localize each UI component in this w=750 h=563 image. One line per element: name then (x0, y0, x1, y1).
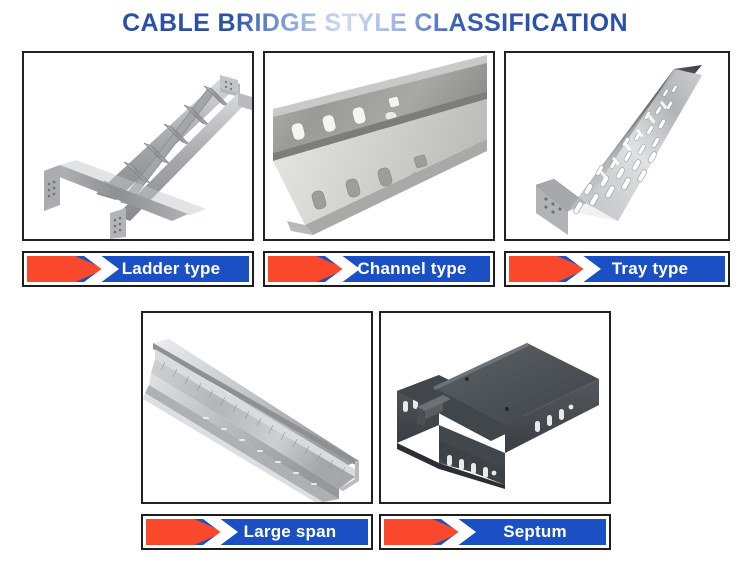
photo-frame-tray-type (504, 51, 730, 241)
large-span-cable-tray-photo (143, 313, 371, 502)
card-tray-type[interactable]: Tray type (504, 51, 730, 287)
label-inner-large-span: Large span (146, 519, 368, 545)
label-inner-ladder-type: Ladder type (27, 256, 249, 282)
page-title: CABLE BRIDGE STYLE CLASSIFICATION (0, 8, 750, 38)
card-label-large-span: Large span (146, 522, 368, 542)
card-large-span[interactable]: Large span (141, 311, 373, 550)
card-label-channel-type: Channel type (268, 259, 490, 279)
label-inner-tray-type: Tray type (509, 256, 725, 282)
ladder-type-cable-tray-photo (24, 53, 252, 239)
card-ladder-type[interactable]: Ladder type (22, 51, 254, 287)
card-label-tray-type: Tray type (509, 259, 725, 279)
label-bar-septum[interactable]: Septum (379, 514, 611, 550)
poster-root: CABLE BRIDGE STYLE CLASSIFICATION (0, 0, 750, 563)
card-channel-type[interactable]: Channel type (263, 51, 495, 287)
label-bar-channel-type[interactable]: Channel type (263, 251, 495, 287)
label-inner-septum: Septum (384, 519, 606, 545)
label-bar-large-span[interactable]: Large span (141, 514, 373, 550)
label-bar-ladder-type[interactable]: Ladder type (22, 251, 254, 287)
label-inner-channel-type: Channel type (268, 256, 490, 282)
photo-frame-ladder-type (22, 51, 254, 241)
label-bar-tray-type[interactable]: Tray type (504, 251, 730, 287)
photo-frame-channel-type (263, 51, 495, 241)
photo-frame-large-span (141, 311, 373, 504)
channel-type-cable-tray-photo (265, 53, 493, 239)
card-label-septum: Septum (384, 522, 606, 542)
card-label-ladder-type: Ladder type (27, 259, 249, 279)
septum-cable-tray-photo (381, 313, 609, 502)
bottom-row: Large span (141, 311, 611, 550)
top-row: Ladder type (22, 51, 730, 287)
tray-type-cable-tray-photo (506, 53, 728, 239)
card-septum[interactable]: Septum (379, 311, 611, 550)
photo-frame-septum (379, 311, 611, 504)
